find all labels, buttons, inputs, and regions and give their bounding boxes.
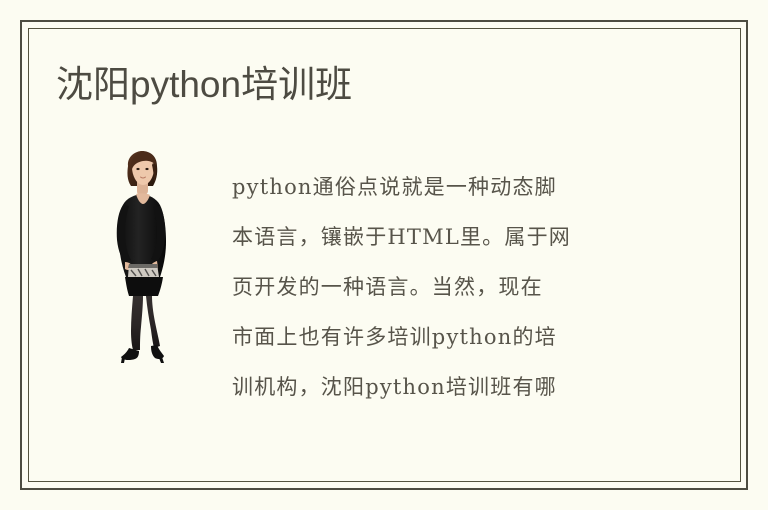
article-line: 本语言，镶嵌于HTML里。属于网 (232, 212, 644, 262)
article-line: 训机构，沈阳python培训班有哪 (232, 362, 644, 400)
woman-in-black-dress-photo (98, 150, 184, 368)
article-line: python通俗点说就是一种动态脚 (232, 162, 644, 212)
article-line: 市面上也有许多培训python的培 (232, 312, 644, 362)
page-title: 沈阳python培训班 (56, 62, 352, 108)
article-line: 页开发的一种语言。当然，现在 (232, 262, 644, 312)
article-body: python通俗点说就是一种动态脚 本语言，镶嵌于HTML里。属于网 页开发的一… (232, 162, 644, 400)
article-card: 沈阳python培训班 (0, 0, 768, 510)
